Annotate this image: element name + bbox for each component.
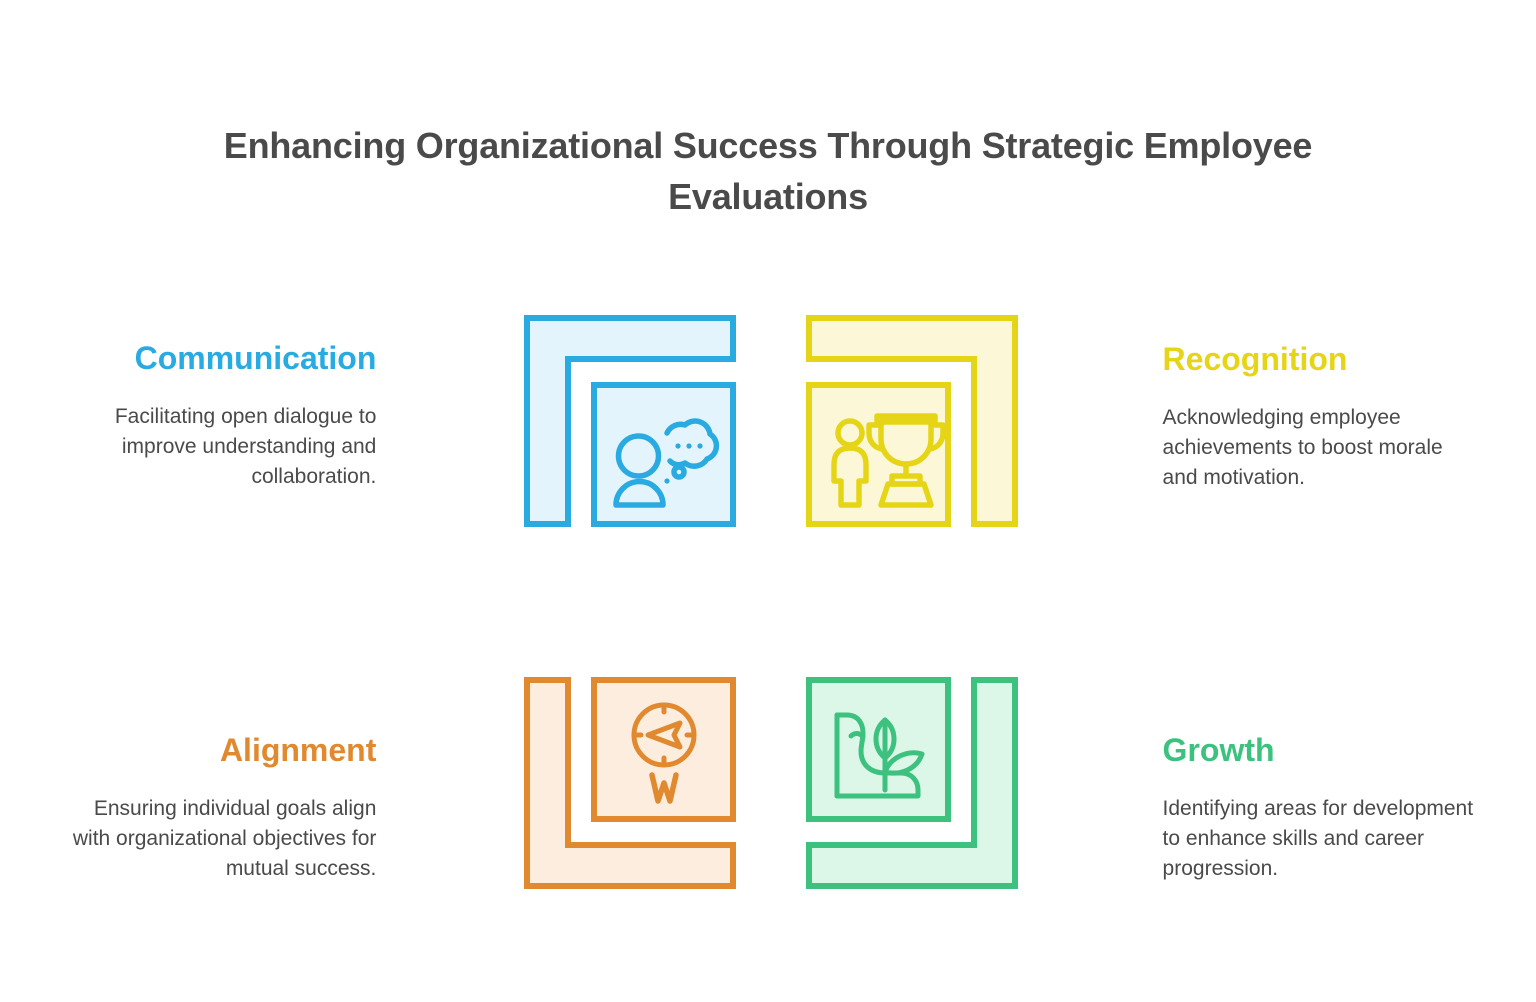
card-description-growth: Identifying areas for development to enh… [1163, 794, 1476, 883]
card-description-recognition: Acknowledging employee achievements to b… [1163, 403, 1476, 492]
sprout-plant-icon [806, 677, 1018, 889]
card-alignment[interactable]: Alignment Ensuring individual goals alig… [0, 600, 768, 950]
card-text-growth: Growth Identifying areas for development… [1135, 733, 1536, 884]
compass-west-icon [524, 677, 736, 889]
card-recognition[interactable]: Recognition Acknowledging employee achie… [768, 250, 1536, 600]
card-description-communication: Facilitating open dialogue to improve un… [60, 402, 376, 491]
card-icon-wrap-alignment [404, 677, 768, 889]
page-title: Enhancing Organizational Success Through… [190, 120, 1346, 222]
person-speech-bubble-icon [524, 315, 736, 527]
card-communication[interactable]: Communication Facilitating open dialogue… [0, 250, 768, 600]
person-trophy-icon [806, 315, 1018, 527]
card-title-growth: Growth [1163, 733, 1476, 768]
card-icon-wrap-recognition [768, 315, 1135, 527]
card-icon-wrap-communication [404, 315, 768, 527]
card-icon-wrap-growth [768, 677, 1135, 889]
card-growth[interactable]: Growth Identifying areas for development… [768, 600, 1536, 950]
card-text-recognition: Recognition Acknowledging employee achie… [1135, 342, 1536, 493]
card-title-recognition: Recognition [1163, 342, 1476, 377]
card-text-alignment: Alignment Ensuring individual goals alig… [0, 733, 404, 884]
card-title-alignment: Alignment [60, 733, 376, 768]
cards-grid: Communication Facilitating open dialogue… [0, 250, 1536, 950]
card-description-alignment: Ensuring individual goals align with org… [60, 794, 376, 883]
card-text-communication: Communication Facilitating open dialogue… [0, 341, 404, 492]
card-title-communication: Communication [60, 341, 376, 376]
